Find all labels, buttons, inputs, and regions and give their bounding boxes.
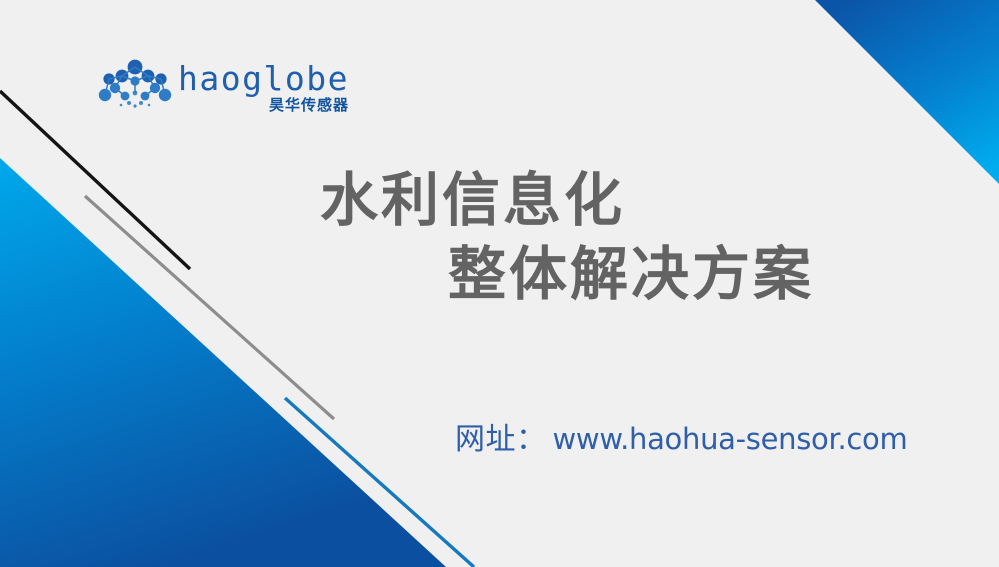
title-line-1: 水利信息化 bbox=[318, 163, 878, 237]
haoglobe-molecule-logo-icon bbox=[98, 58, 172, 114]
presentation-title-slide: haoglobe 昊华传感器 水利信息化 整体解决方案 网址： www.haoh… bbox=[0, 0, 999, 567]
title-line-2: 整体解决方案 bbox=[318, 237, 878, 311]
website-label: 网址： bbox=[455, 421, 547, 459]
page-title: 水利信息化 整体解决方案 bbox=[318, 163, 878, 311]
company-logo: haoglobe 昊华传感器 bbox=[98, 58, 323, 120]
website-url[interactable]: www.haohua-sensor.com bbox=[553, 420, 908, 458]
website-line: 网址： www.haohua-sensor.com bbox=[455, 420, 907, 459]
logo-wordmark: haoglobe bbox=[178, 62, 349, 96]
logo-text: haoglobe 昊华传感器 bbox=[178, 58, 349, 114]
logo-subtitle: 昊华传感器 bbox=[269, 97, 349, 114]
